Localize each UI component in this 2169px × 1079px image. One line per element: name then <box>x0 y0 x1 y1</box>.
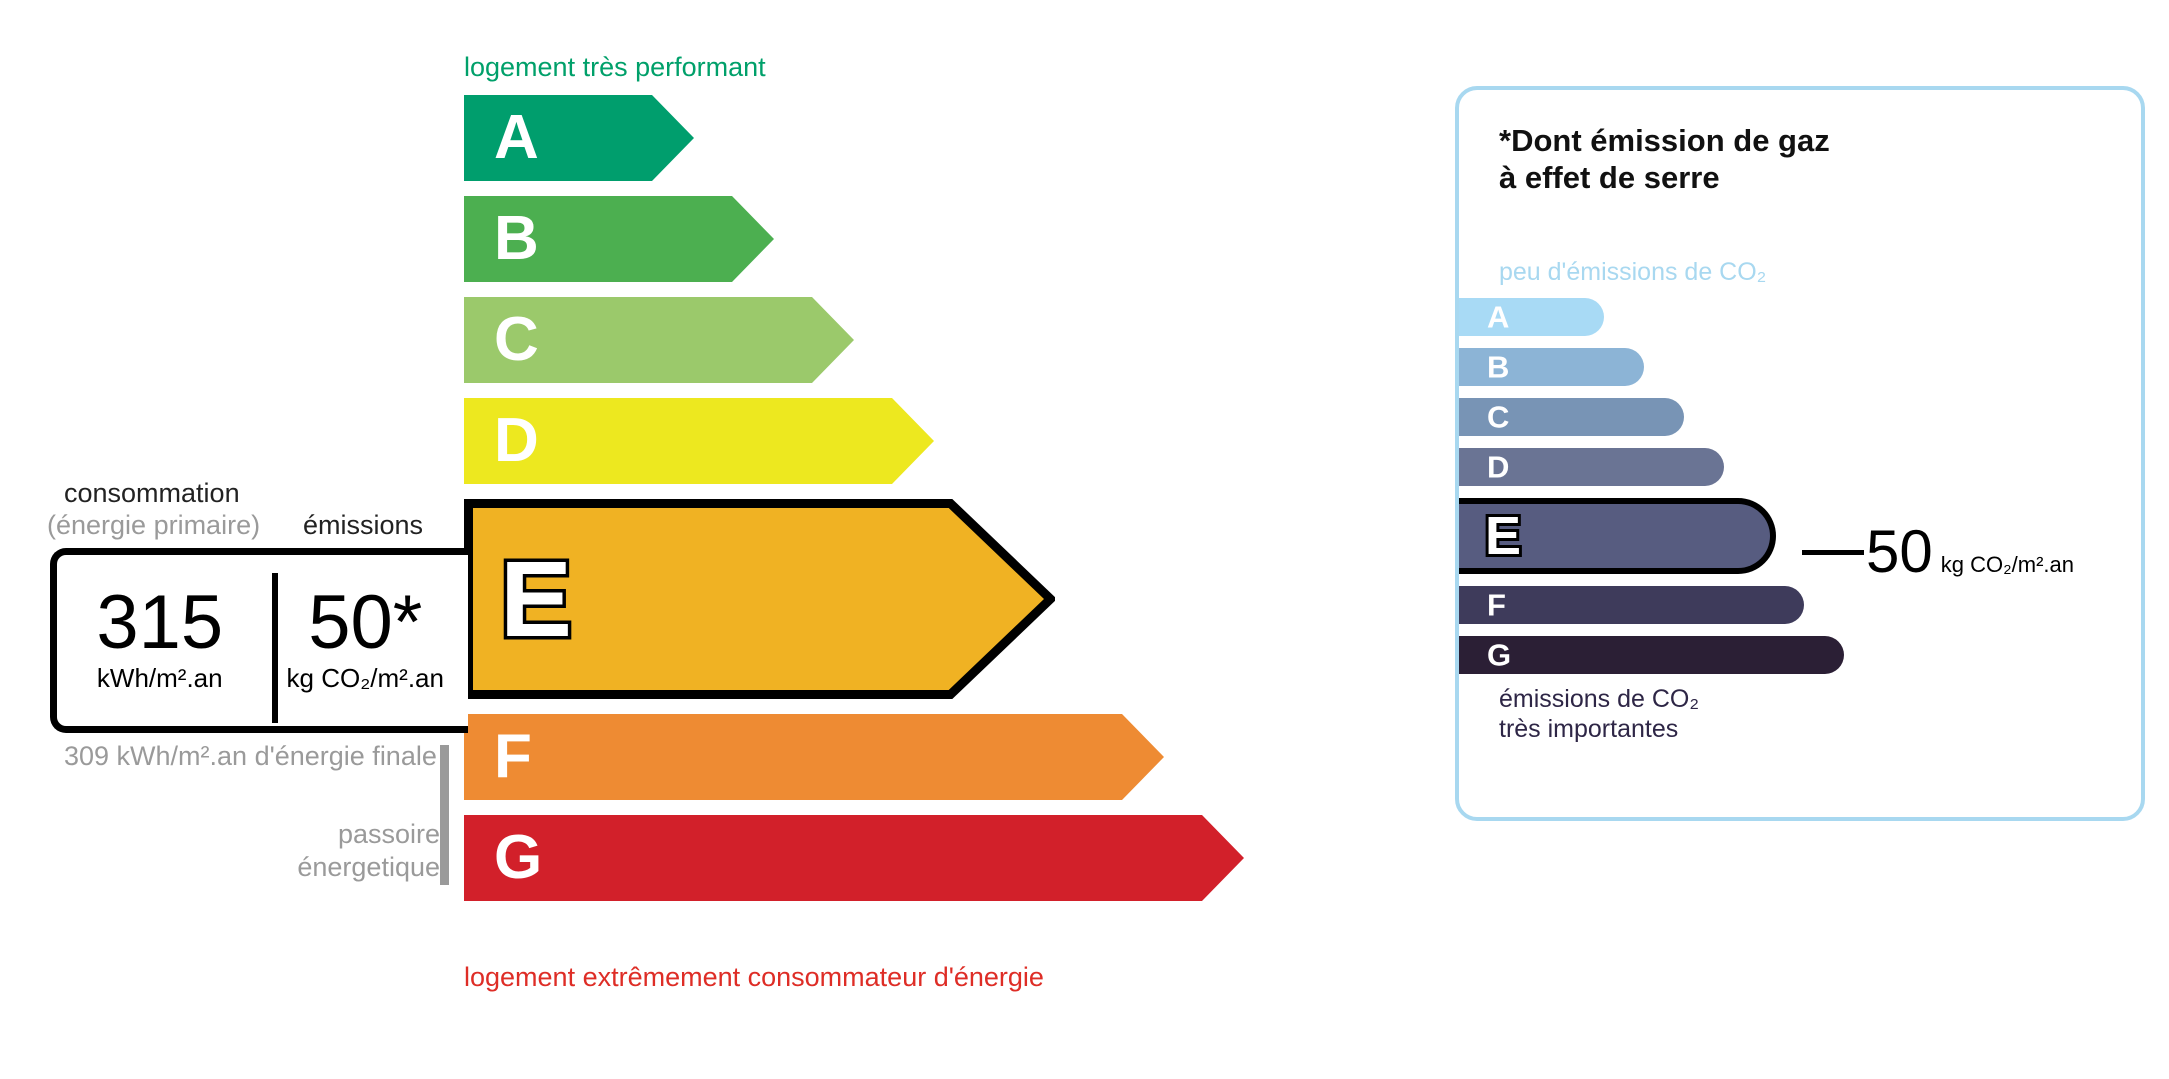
emissions-number: 50* <box>263 587 469 659</box>
energy-arrow-d <box>464 398 934 484</box>
co2-class-letter-c: C <box>1487 402 1509 433</box>
co2-class-row-f: F <box>1459 586 2149 624</box>
co2-bottom-caption: émissions de CO₂ très importantes <box>1499 684 1699 744</box>
energy-arrow-f <box>464 714 1164 800</box>
co2-class-row-d: D <box>1459 448 2149 486</box>
co2-class-letter-a: A <box>1487 302 1509 333</box>
energy-class-row-d: D <box>464 398 1364 484</box>
co2-class-letter-b: B <box>1487 352 1509 383</box>
energy-class-row-a: A <box>464 95 1364 181</box>
callout-leader-line <box>1802 550 1864 555</box>
label-energie-primaire: (énergie primaire) <box>47 510 260 541</box>
co2-panel-title: *Dont émission de gaz à effet de serre <box>1499 122 1830 196</box>
passoire-energetique-note: passoire énergetique <box>230 818 440 884</box>
energy-arrow-g <box>464 815 1244 901</box>
energy-value-box: 315 kWh/m².an 50* kg CO₂/m².an <box>50 548 468 733</box>
co2-class-row-c: C <box>1459 398 2149 436</box>
co2-class-letter-e: E <box>1485 509 1521 563</box>
co2-emissions-panel: *Dont émission de gaz à effet de serre p… <box>1455 86 2145 821</box>
energy-top-caption: logement très performant <box>464 52 766 83</box>
energy-class-row-f: F <box>464 714 1364 800</box>
co2-bar-a <box>1459 298 1604 336</box>
co2-callout-unit: kg CO₂/m².an <box>1941 552 2074 578</box>
value-box-divider <box>272 573 278 723</box>
co2-class-scale: ABCDEFG <box>1459 298 2149 686</box>
energy-class-scale: ABCDEFG <box>464 95 1364 916</box>
final-energy-note: 309 kWh/m².an d'énergie finale <box>64 740 437 773</box>
label-emissions: émissions <box>303 510 423 541</box>
energy-arrow-e <box>464 499 1055 699</box>
energy-arrow-c <box>464 297 854 383</box>
passoire-bracket-bar <box>440 745 449 885</box>
co2-bar-f <box>1459 586 1804 624</box>
energy-performance-diagram: logement très performant ABCDEFG logemen… <box>0 0 1400 1079</box>
energy-class-row-c: C <box>464 297 1364 383</box>
primary-energy-unit: kWh/m².an <box>57 663 263 694</box>
co2-class-row-a: A <box>1459 298 2149 336</box>
co2-callout-value: 50 <box>1866 522 1933 582</box>
emissions-value-cell: 50* kg CO₂/m².an <box>263 587 469 694</box>
energy-bottom-caption: logement extrêmement consommateur d'éner… <box>464 962 1044 993</box>
primary-energy-value-cell: 315 kWh/m².an <box>57 587 263 694</box>
co2-class-letter-g: G <box>1487 640 1511 671</box>
co2-class-row-b: B <box>1459 348 2149 386</box>
co2-class-letter-d: D <box>1487 452 1509 483</box>
co2-class-letter-f: F <box>1487 590 1506 621</box>
co2-top-caption: peu d'émissions de CO₂ <box>1499 258 1766 287</box>
co2-class-row-g: G <box>1459 636 2149 674</box>
energy-arrow-a <box>464 95 694 181</box>
energy-class-row-g: G <box>464 815 1364 901</box>
co2-value-callout: 50 kg CO₂/m².an <box>1802 522 2074 582</box>
energy-class-row-b: B <box>464 196 1364 282</box>
energy-class-row-e: E <box>464 499 1364 699</box>
label-consommation: consommation <box>64 478 240 509</box>
co2-bar-g <box>1459 636 1844 674</box>
energy-arrow-b <box>464 196 774 282</box>
emissions-unit: kg CO₂/m².an <box>263 663 469 694</box>
primary-energy-number: 315 <box>57 587 263 659</box>
